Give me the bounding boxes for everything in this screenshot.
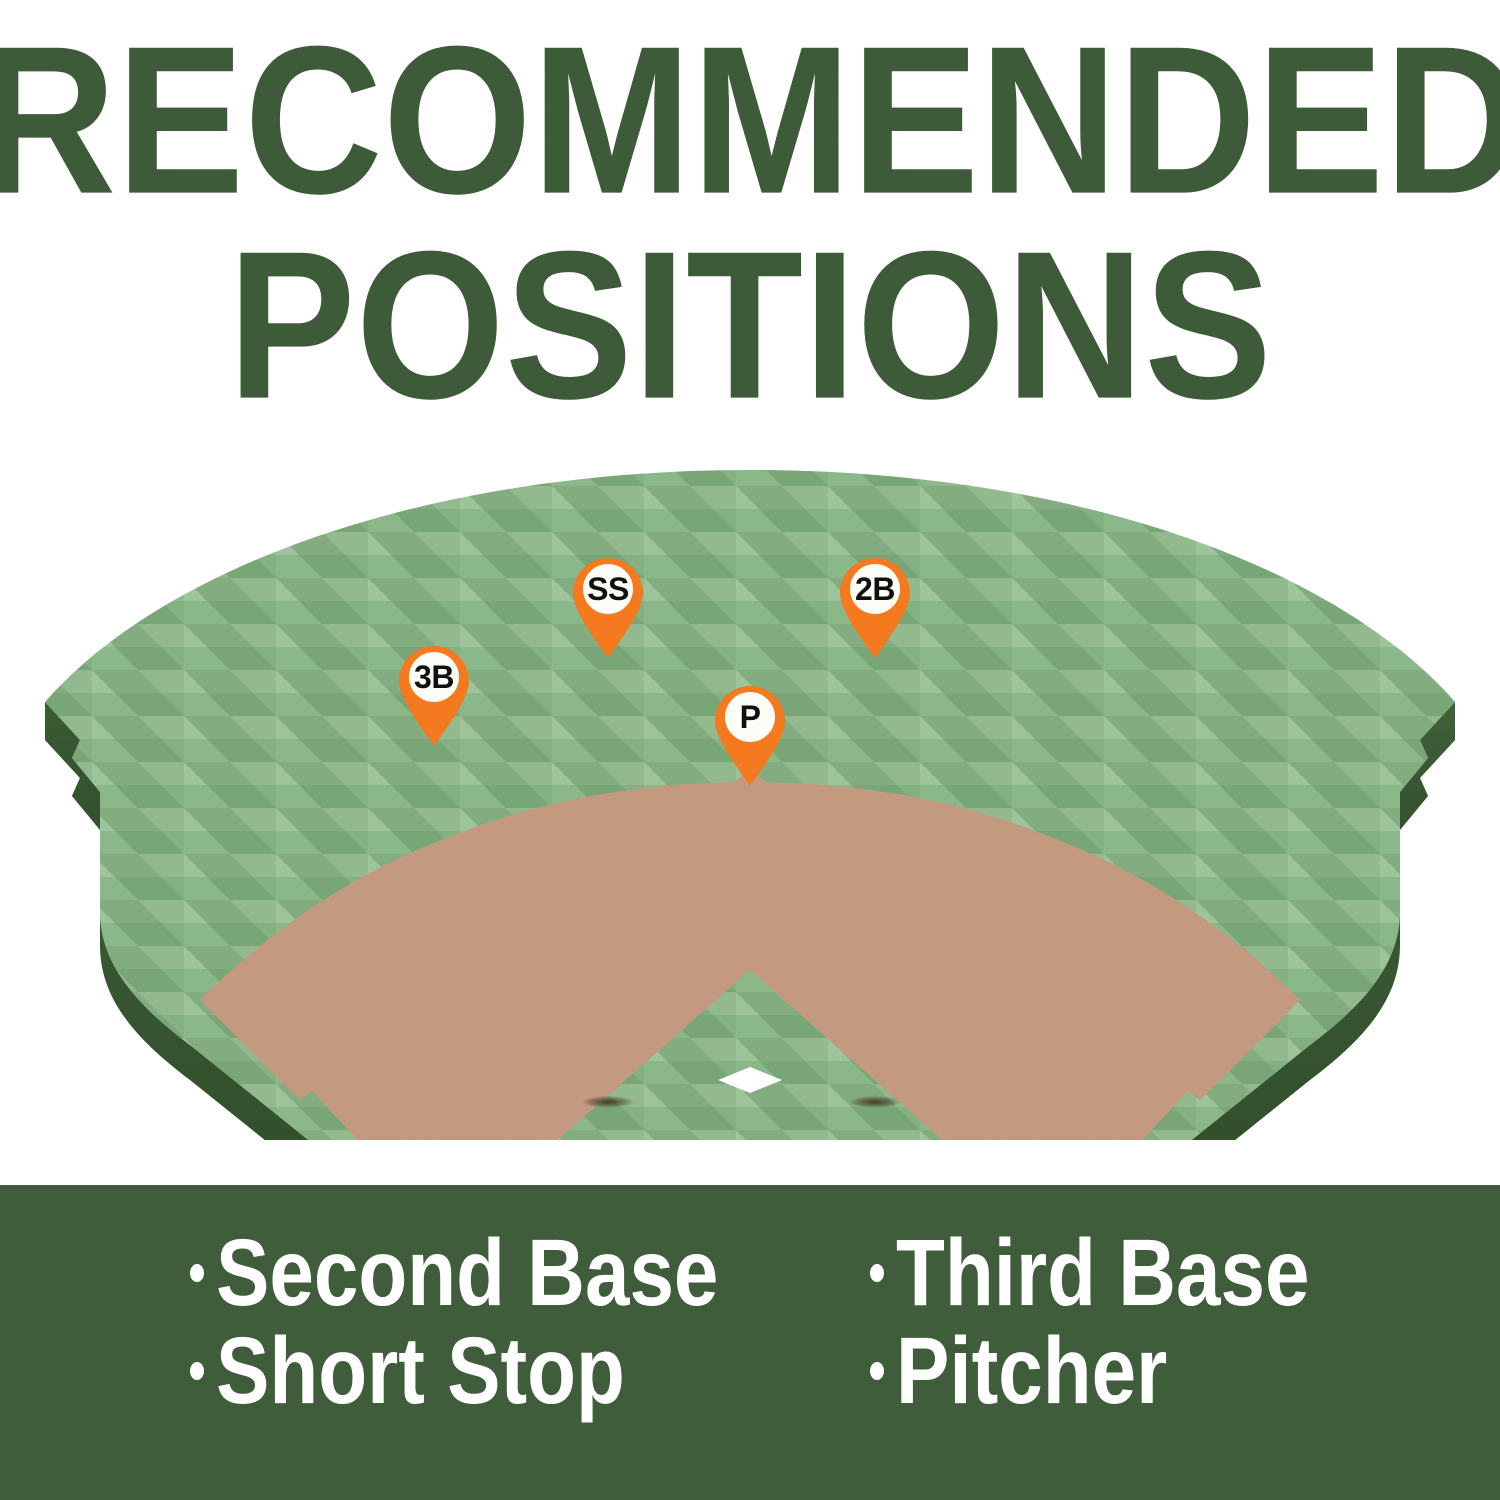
title-line-recommended: RECOMMENDED (0, 28, 1500, 213)
bullet-dot-icon (870, 1264, 884, 1282)
map-pin-icon (570, 556, 646, 660)
positions-bullet-grid: Second Base Third Base Short Stop Pitche… (190, 1231, 1370, 1413)
list-item-pitcher[interactable]: Pitcher (870, 1329, 1350, 1413)
list-item-second-base[interactable]: Second Base (190, 1231, 670, 1315)
positions-list-panel: Second Base Third Base Short Stop Pitche… (0, 1185, 1500, 1500)
map-pin-icon (396, 644, 472, 748)
bullet-dot-icon (190, 1362, 204, 1380)
map-pin-icon (712, 684, 788, 788)
bullet-dot-icon (190, 1264, 204, 1282)
field-illustration (0, 440, 1500, 1140)
list-item-label: Third Base (896, 1223, 1309, 1322)
marker-pin-second-base[interactable]: 2B (837, 556, 913, 660)
marker-pin-pitcher[interactable]: P (712, 684, 788, 788)
page-title: RECOMMENDED POSITIONS (0, 0, 1500, 440)
list-item-label: Second Base (216, 1223, 718, 1322)
bullet-dot-icon (870, 1362, 884, 1380)
list-item-third-base[interactable]: Third Base (870, 1231, 1350, 1315)
title-line-positions: POSITIONS (228, 233, 1272, 418)
list-item-short-stop[interactable]: Short Stop (190, 1329, 670, 1413)
baseball-field-diagram: SS 2B 3B P (0, 440, 1500, 1140)
marker-pin-third-base[interactable]: 3B (396, 644, 472, 748)
map-pin-icon (837, 556, 913, 660)
marker-pin-shortstop[interactable]: SS (570, 556, 646, 660)
list-item-label: Pitcher (896, 1321, 1167, 1420)
list-item-label: Short Stop (216, 1321, 625, 1420)
